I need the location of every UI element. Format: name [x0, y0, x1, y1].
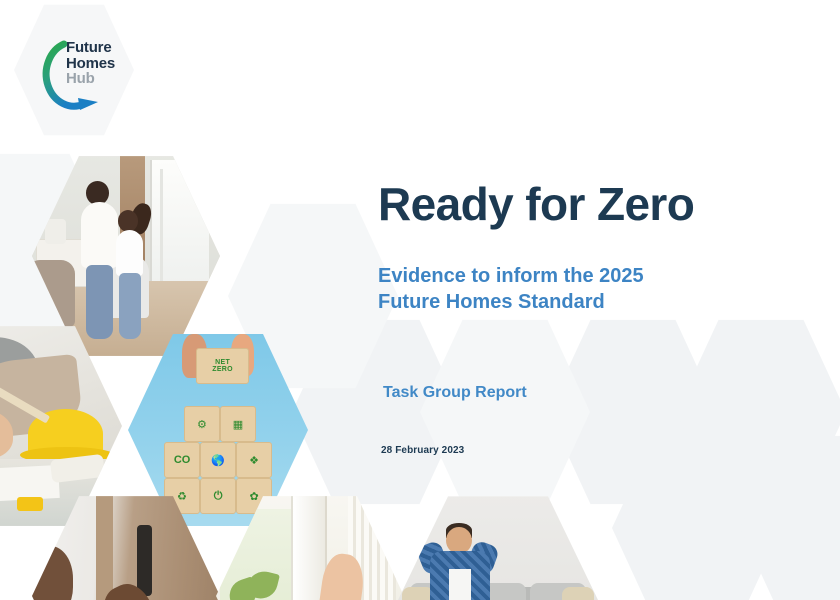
logo-line-future: Future [66, 40, 115, 56]
future-homes-hub-logo[interactable]: Future Homes Hub [40, 38, 140, 114]
logo-line-hub: Hub [66, 71, 115, 87]
report-date: 28 February 2023 [381, 445, 464, 456]
page-subtitle: Evidence to inform the 2025 Future Homes… [378, 263, 798, 316]
solar-panel-icon: ▦ [233, 418, 243, 431]
globe-leaf-icon: 🌎 [211, 454, 225, 467]
ghost-hexagon [420, 316, 590, 508]
page-title: Ready for Zero [378, 180, 798, 229]
title-block: Ready for Zero Evidence to inform the 20… [378, 180, 798, 316]
eco-icon: ✿ [249, 490, 258, 503]
subtitle-line-1: Evidence to inform the 2025 [378, 263, 798, 289]
recycle-icon: ♻ [177, 490, 187, 503]
logo-wordmark: Future Homes Hub [66, 40, 115, 87]
logo-line-homes: Homes [66, 56, 115, 72]
ev-charger-icon: ⏻ [214, 490, 223, 503]
wind-turbine-icon: ⚙ [197, 418, 207, 431]
net-zero-block-label: NETZERO [196, 348, 248, 384]
co2-leaf-icon: CO [174, 454, 191, 466]
plug-leaf-icon: ❖ [249, 454, 259, 467]
report-label: Task Group Report [383, 384, 527, 402]
subtitle-line-2: Future Homes Standard [378, 289, 798, 315]
cover-page: NETZERO ⚙ ▦ CO 🌎 ❖ ♻ ⏻ ✿ [0, 0, 840, 600]
